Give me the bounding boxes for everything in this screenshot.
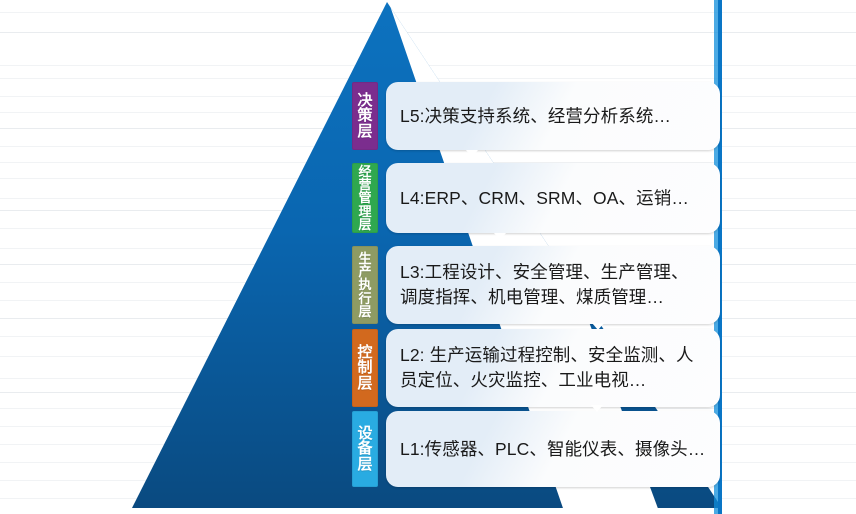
level-tab-char: 经 (358, 165, 371, 178)
gap-arrow-icon (466, 150, 478, 157)
level-tab-l4: 经营管理层 (352, 163, 378, 233)
level-card-l2[interactable]: L2: 生产运输过程控制、安全监测、人员定位、火灾监控、工业电视… (386, 329, 720, 407)
level-tab-char: 层 (357, 124, 372, 139)
level-tab-l5: 决策层 (352, 82, 378, 150)
level-tab-char: 管 (358, 191, 371, 204)
pyramid-levels: 决策层L5:决策支持系统、经营分析系统…经营管理层L4:ERP、CRM、SRM、… (0, 0, 856, 514)
level-tab-char: 层 (357, 457, 372, 472)
level-tab-char: 层 (358, 305, 371, 318)
level-card-l3[interactable]: L3:工程设计、安全管理、生产管理、调度指挥、机电管理、煤质管理… (386, 246, 720, 324)
level-tab-char: 制 (357, 360, 372, 375)
level-card-text: L5:决策支持系统、经营分析系统… (400, 104, 671, 129)
gap-arrow-icon (591, 405, 603, 412)
level-tab-char: 执 (358, 278, 371, 291)
level-card-text: L1:传感器、PLC、智能仪表、摄像头… (400, 437, 705, 462)
level-card-text: L2: 生产运输过程控制、安全监测、人员定位、火灾监控、工业电视… (400, 343, 706, 393)
level-tab-char: 行 (358, 292, 371, 305)
pyramid-level-l3[interactable]: 生产执行层L3:工程设计、安全管理、生产管理、调度指挥、机电管理、煤质管理… (352, 246, 720, 324)
pyramid-level-l2[interactable]: 控制层L2: 生产运输过程控制、安全监测、人员定位、火灾监控、工业电视… (352, 329, 720, 407)
level-tab-char: 生 (358, 252, 371, 265)
level-card-text: L4:ERP、CRM、SRM、OA、运销… (400, 186, 689, 211)
level-tab-char: 产 (358, 265, 371, 278)
gap-arrow-icon (592, 323, 604, 330)
level-tab-char: 理 (358, 205, 371, 218)
pyramid-level-l5[interactable]: 决策层L5:决策支持系统、经营分析系统… (352, 82, 720, 150)
level-tab-l2: 控制层 (352, 329, 378, 407)
level-tab-char: 备 (357, 441, 372, 456)
pyramid-level-l4[interactable]: 经营管理层L4:ERP、CRM、SRM、OA、运销… (352, 163, 720, 233)
gap-arrow-icon (494, 233, 506, 240)
pyramid-level-l1[interactable]: 设备层L1:传感器、PLC、智能仪表、摄像头… (352, 411, 720, 487)
level-tab-l3: 生产执行层 (352, 246, 378, 324)
level-card-text: L3:工程设计、安全管理、生产管理、调度指挥、机电管理、煤质管理… (400, 260, 706, 310)
level-tab-char: 层 (358, 218, 371, 231)
level-tab-l1: 设备层 (352, 411, 378, 487)
level-card-l5[interactable]: L5:决策支持系统、经营分析系统… (386, 82, 720, 150)
level-card-l1[interactable]: L1:传感器、PLC、智能仪表、摄像头… (386, 411, 720, 487)
level-tab-char: 营 (358, 178, 371, 191)
level-tab-char: 策 (357, 108, 372, 123)
pyramid-diagram: 决策层L5:决策支持系统、经营分析系统…经营管理层L4:ERP、CRM、SRM、… (0, 0, 856, 514)
level-tab-char: 层 (357, 376, 372, 391)
level-card-l4[interactable]: L4:ERP、CRM、SRM、OA、运销… (386, 163, 720, 233)
